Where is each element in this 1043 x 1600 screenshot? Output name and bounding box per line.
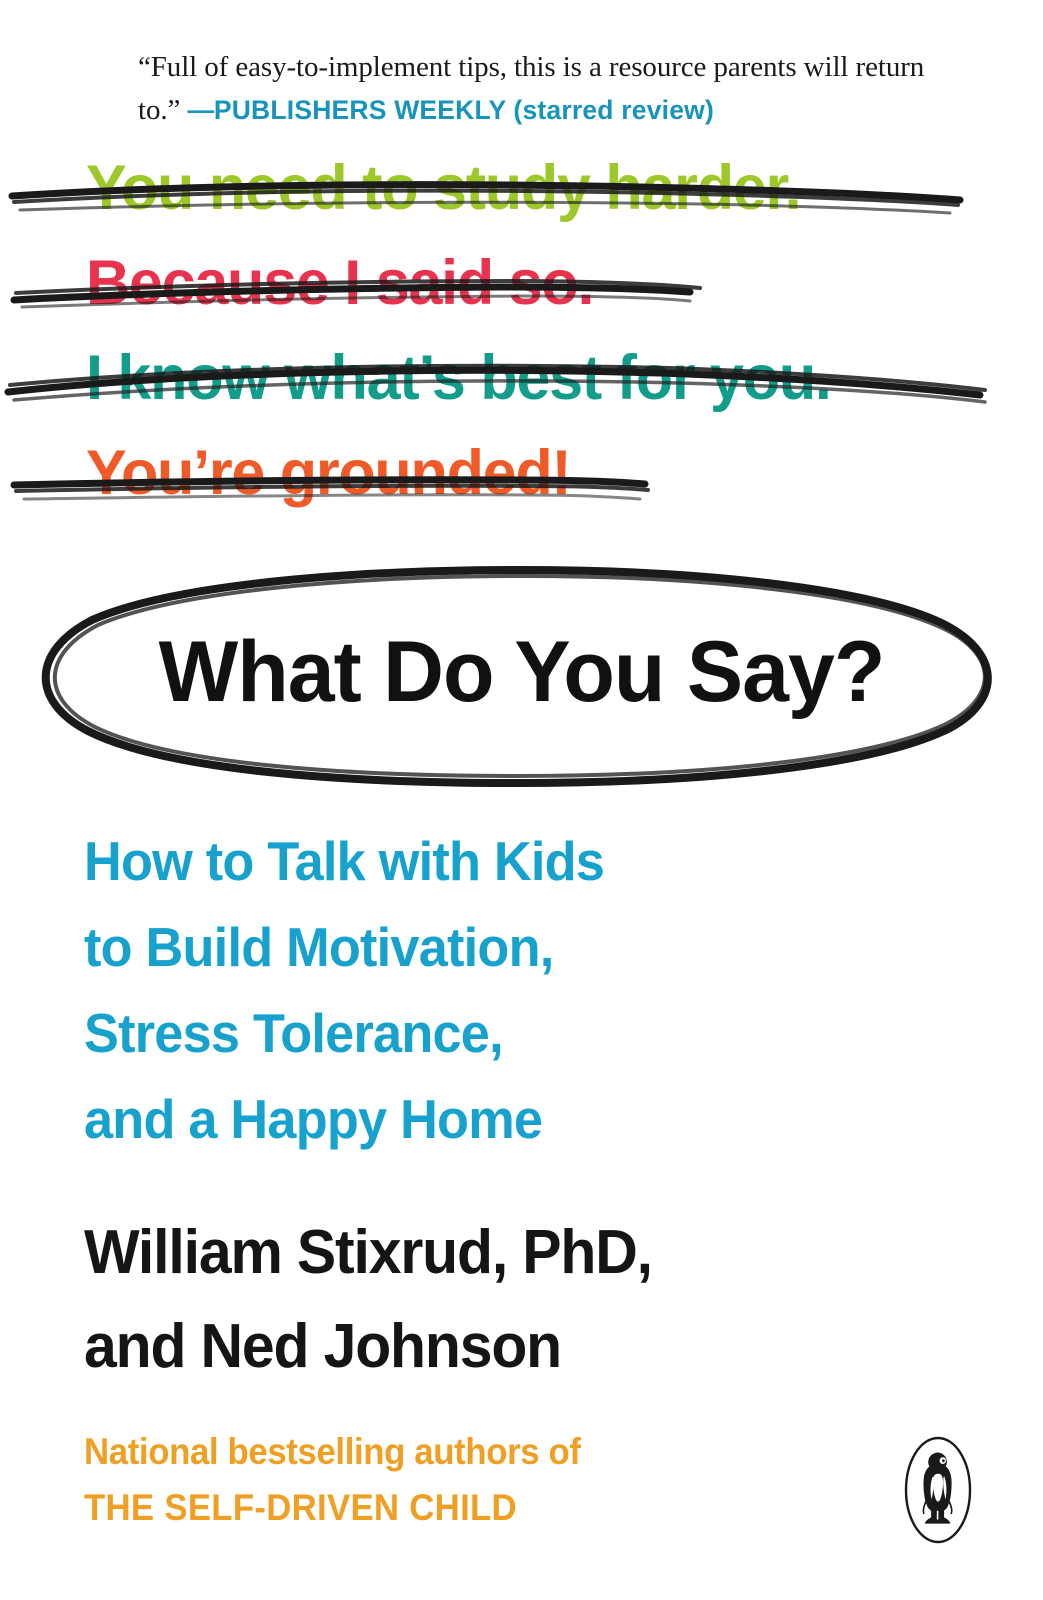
subtitle-line-1: How to Talk with Kids [84,818,863,904]
crossed-out-phrases: You need to study harder. Because I said… [0,150,1043,530]
struck-row-4: You’re grounded! [0,435,1043,530]
review-blurb: “Full of easy-to-implement tips, this is… [138,46,928,131]
bestseller-line-2: THE SELF-DRIVEN CHILD [84,1480,742,1536]
author-line-1: William Stixrud, PhD, [84,1206,901,1300]
bestseller-line-1: National bestselling authors of [84,1424,742,1480]
struck-line-study-harder: You need to study harder. [86,150,800,226]
struck-line-because-i-said-so: Because I said so. [86,245,593,321]
subtitle-block: How to Talk with Kids to Build Motivatio… [84,818,863,1162]
bestseller-note: National bestselling authors of THE SELF… [84,1424,742,1536]
penguin-logo-icon [895,1430,981,1550]
struck-line-i-know-whats-best: I know what’s best for you. [86,340,831,416]
subtitle-line-3: Stress Tolerance, [84,990,863,1076]
authors-block: William Stixrud, PhD, and Ned Johnson [84,1206,901,1394]
blurb-dash: — [187,95,213,125]
author-line-2: and Ned Johnson [84,1300,901,1394]
page-title: What Do You Say? [10,624,1032,720]
struck-row-1: You need to study harder. [0,150,1043,245]
blurb-source: PUBLISHERS WEEKLY (starred review) [214,95,714,125]
title-block: What Do You Say? [0,548,1043,798]
struck-line-youre-grounded: You’re grounded! [86,435,571,511]
subtitle-line-4: and a Happy Home [84,1076,863,1162]
struck-row-3: I know what’s best for you. [0,340,1043,435]
struck-row-2: Because I said so. [0,245,1043,340]
book-cover: “Full of easy-to-implement tips, this is… [0,0,1043,1600]
subtitle-line-2: to Build Motivation, [84,904,863,990]
penguin-logo [895,1430,981,1550]
